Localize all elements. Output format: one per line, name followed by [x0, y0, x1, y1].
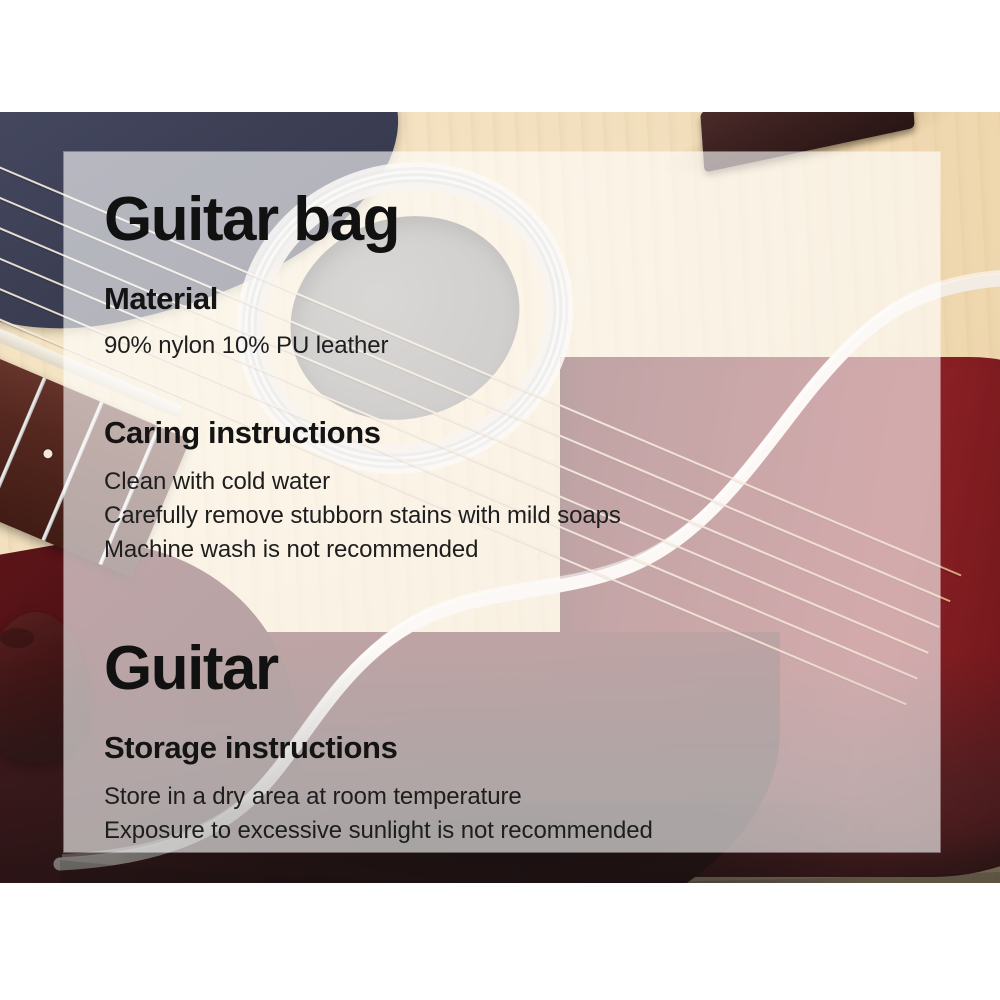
storage-line-1: Store in a dry area at room temperature: [104, 780, 940, 814]
section-guitar: Guitar Storage instructions Store in a d…: [104, 637, 940, 848]
section-title-guitar: Guitar: [104, 637, 940, 700]
caring-line-2: Carefully remove stubborn stains with mi…: [104, 499, 940, 533]
heading-caring-instructions: Caring instructions: [104, 415, 940, 451]
product-info-panel: Guitar bag Material 90% nylon 10% PU lea…: [64, 152, 940, 852]
heading-storage-instructions: Storage instructions: [104, 730, 940, 766]
caring-line-3: Machine wash is not recommended: [104, 533, 940, 567]
section-guitar-bag: Guitar bag Material 90% nylon 10% PU lea…: [104, 188, 940, 567]
caring-line-1: Clean with cold water: [104, 465, 940, 499]
section-title-guitar-bag: Guitar bag: [104, 188, 940, 251]
heading-material: Material: [104, 281, 940, 317]
knob-highlight: [0, 628, 34, 648]
material-line-1: 90% nylon 10% PU leather: [104, 329, 940, 363]
storage-line-2: Exposure to excessive sunlight is not re…: [104, 814, 940, 848]
product-image-canvas: Guitar bag Material 90% nylon 10% PU lea…: [0, 0, 1000, 1000]
